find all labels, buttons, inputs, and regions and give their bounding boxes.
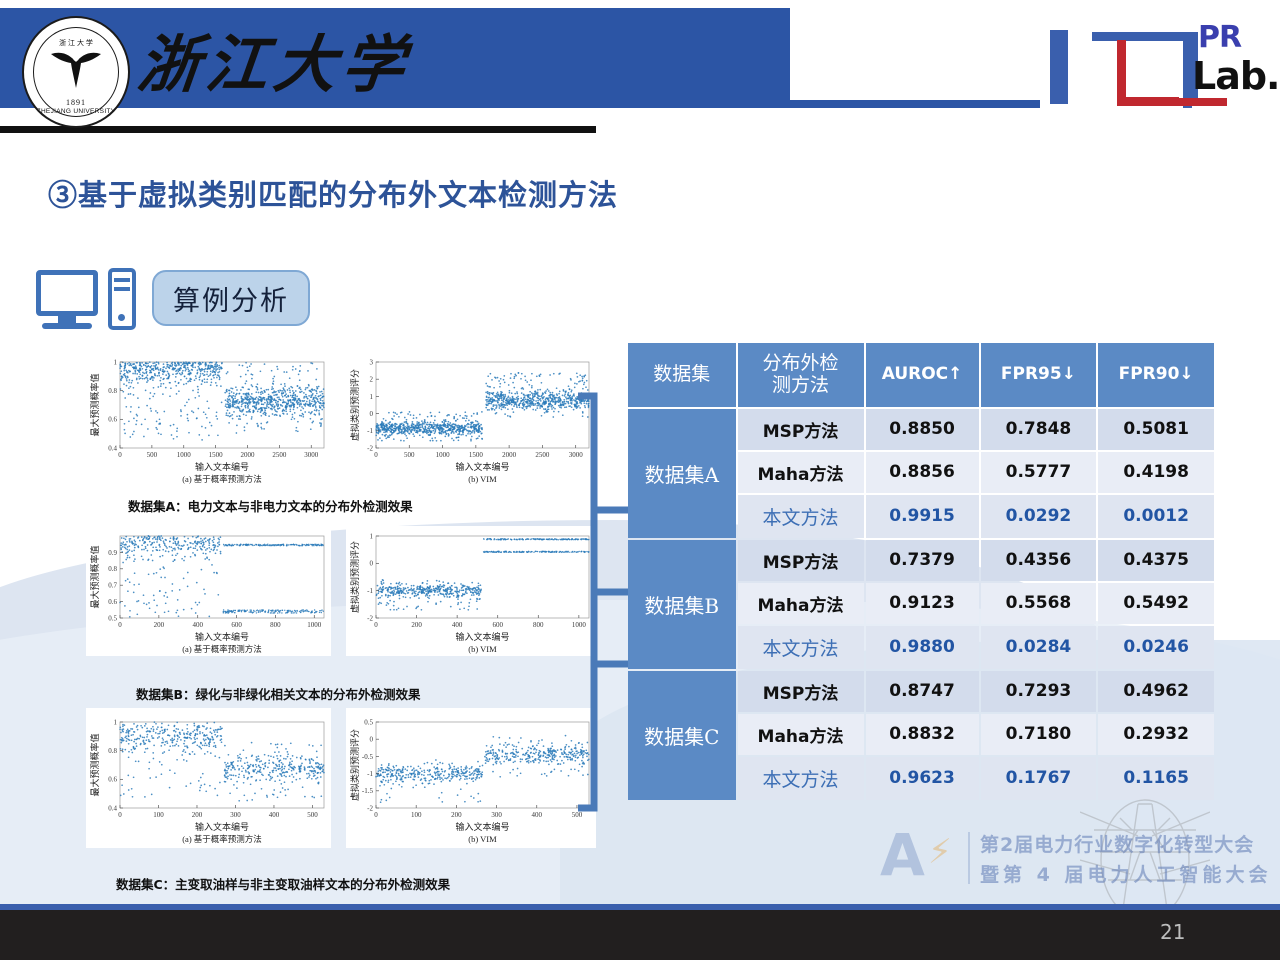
table-cell-fpr90: 0.4962 [1098,671,1214,712]
lightning-bolt-icon: ⚡ [928,832,952,872]
table-cell-fpr90: 0.5081 [1098,409,1214,450]
svg-text:1000: 1000 [307,621,322,629]
svg-text:输入文本编号: 输入文本编号 [455,461,509,473]
table-cell-fpr95: 0.7293 [981,671,1097,712]
seal-top-text: 浙 江 大 学 [24,38,128,48]
table-cell-dataset: 数据集C [628,671,736,800]
svg-text:-1: -1 [367,427,373,435]
table-cell-method: 本文方法 [738,495,864,538]
svg-text:600: 600 [492,621,503,629]
pr-logo-blue-stem [1183,32,1192,108]
figure-c-caption: 数据集C：主变取油样与非主变取油样文本的分布外检测效果 [116,874,450,893]
pr-lab-logo: PR Lab. [1050,14,1276,106]
svg-text:输入文本编号: 输入文本编号 [195,461,249,473]
university-name: 浙江大学 [135,34,414,96]
table-cell-fpr90: 0.0246 [1098,626,1214,669]
figures-area: 0.40.60.81050010001500200025003000输入文本编号… [78,340,608,900]
table-cell-auroc: 0.9915 [866,495,979,538]
pr-logo-red-underline [1117,98,1227,106]
svg-text:1: 1 [370,532,374,540]
svg-text:(a) 基于概率预测方法: (a) 基于概率预测方法 [182,474,262,484]
table-cell-method: 本文方法 [738,757,864,800]
figure-b-caption: 数据集B：绿化与非绿化相关文本的分布外检测效果 [136,684,421,703]
svg-text:虚拟类别预测评分: 虚拟类别预测评分 [349,369,361,441]
svg-text:0.8: 0.8 [108,387,117,395]
table-cell-fpr90: 0.4198 [1098,452,1214,493]
table-cell-method: Maha方法 [738,452,864,493]
col-header-auroc: AUROC↑ [866,343,979,407]
table-cell-fpr90: 0.0012 [1098,495,1214,538]
table-cell-auroc: 0.7379 [866,540,979,581]
monitor-base-icon [42,323,92,329]
svg-text:(b) VIM: (b) VIM [468,474,497,484]
table-header-row: 数据集 分布外检 测方法 AUROC↑ FPR95↓ FPR90↓ [628,343,1214,407]
col-header-method: 分布外检 测方法 [738,343,864,407]
seal-arc-text: ZHEJIANG UNIVERSITY [24,108,128,115]
conference-line-1: 第2届电力行业数字化转型大会 [980,830,1254,857]
table-cell-fpr90: 0.2932 [1098,714,1214,755]
svg-text:500: 500 [404,451,415,459]
pc-tower-slot-1-icon [114,278,130,282]
svg-text:0: 0 [118,621,122,629]
svg-text:0: 0 [370,560,374,568]
svg-text:-2: -2 [367,614,373,622]
seal-bird-icon [47,48,105,94]
svg-text:400: 400 [192,621,203,629]
table-cell-auroc: 0.9623 [866,757,979,800]
svg-text:(a) 基于概率预测方法: (a) 基于概率预测方法 [182,644,262,654]
pc-tower-slot-2-icon [114,287,130,291]
header-black-rule [0,126,596,133]
table-cell-fpr95: 0.7180 [981,714,1097,755]
svg-text:0: 0 [118,451,122,459]
conference-divider [968,832,970,884]
table-cell-fpr95: 0.1767 [981,757,1097,800]
pr-label: PR [1198,20,1241,55]
table-head: 数据集 分布外检 测方法 AUROC↑ FPR95↓ FPR90↓ [628,343,1214,407]
table-cell-auroc: 0.9123 [866,583,979,624]
page-number: 21 [1160,920,1185,944]
chart-a-left: 0.40.60.81050010001500200025003000输入文本编号… [86,348,331,488]
table-row: 数据集CMSP方法0.87470.72930.4962 [628,671,1214,712]
svg-text:0.6: 0.6 [108,598,117,606]
col-header-method-line1: 分布外检 [740,353,862,375]
table-row: 数据集BMSP方法0.73790.43560.4375 [628,540,1214,581]
footer-bar [0,910,1280,960]
table-cell-fpr95: 0.0292 [981,495,1097,538]
table-cell-method: Maha方法 [738,714,864,755]
table-cell-auroc: 0.9880 [866,626,979,669]
svg-text:2000: 2000 [241,451,256,459]
svg-text:0: 0 [374,451,378,459]
svg-text:2: 2 [370,376,374,384]
svg-text:3: 3 [370,358,374,366]
figure-a-caption: 数据集A：电力文本与非电力文本的分布外检测效果 [128,496,413,515]
conference-line-2: 暨第 4 届电力人工智能大会 [980,860,1271,887]
chart-c-left: 0.40.60.810100200300400500输入文本编号(a) 基于概率… [86,708,331,848]
col-header-fpr95: FPR95↓ [981,343,1097,407]
pc-tower-power-icon [118,314,125,321]
table-cell-fpr95: 0.5568 [981,583,1097,624]
svg-text:800: 800 [533,621,544,629]
pr-logo-red-glyph [1117,40,1179,106]
table-cell-fpr95: 0.4356 [981,540,1097,581]
table-cell-method: Maha方法 [738,583,864,624]
table-cell-fpr95: 0.0284 [981,626,1097,669]
table-cell-auroc: 0.8747 [866,671,979,712]
svg-text:1500: 1500 [469,451,484,459]
chart-b-left: 0.50.60.70.80.902004006008001000输入文本编号(a… [86,526,331,656]
col-header-method-line2: 测方法 [740,375,862,397]
svg-text:0.6: 0.6 [108,416,117,424]
svg-text:400: 400 [452,621,463,629]
results-table: 数据集 分布外检 测方法 AUROC↑ FPR95↓ FPR90↓ 数据集AMS… [626,341,1216,802]
svg-text:最大预测概率值: 最大预测概率值 [89,545,101,608]
table-cell-method: MSP方法 [738,671,864,712]
svg-text:-1: -1 [367,587,373,595]
svg-text:3000: 3000 [304,451,319,459]
seal-year: 1891 [24,98,128,107]
svg-text:1000: 1000 [436,451,451,459]
lab-label: Lab. [1192,54,1280,98]
svg-text:200: 200 [154,621,165,629]
svg-text:0.9: 0.9 [108,549,117,557]
svg-text:500: 500 [147,451,158,459]
table-cell-auroc: 0.8850 [866,409,979,450]
svg-text:(b) VIM: (b) VIM [468,644,497,654]
svg-text:1: 1 [114,358,118,366]
table-cell-auroc: 0.8856 [866,452,979,493]
svg-text:输入文本编号: 输入文本编号 [455,631,509,643]
zju-seal-logo: 浙 江 大 学 1891 ZHEJIANG UNIVERSITY [22,16,130,128]
table-cell-dataset: 数据集B [628,540,736,669]
conference-logo-letter: A [880,826,925,884]
svg-text:最大预测概率值: 最大预测概率值 [89,373,101,436]
page-title: ③基于虚拟类别匹配的分布外文本检测方法 [48,172,618,214]
svg-text:600: 600 [231,621,242,629]
col-header-dataset: 数据集 [628,343,736,407]
svg-text:虚拟类别预测评分: 虚拟类别预测评分 [349,541,361,613]
table-cell-dataset: 数据集A [628,409,736,538]
table-cell-method: MSP方法 [738,409,864,450]
slide: 浙 江 大 学 1891 ZHEJIANG UNIVERSITY 浙江大学 PR… [0,0,1280,960]
section-badge: 算例分析 [152,270,310,326]
svg-text:2500: 2500 [535,451,550,459]
header-white-notch [790,8,1042,100]
chart-b-right: -2-10102004006008001000输入文本编号(b) VIM虚拟类别… [346,526,596,656]
chart-c-left: 0.40.60.810100200300400500输入文本编号(a) 基于概率… [86,708,331,848]
svg-text:1500: 1500 [209,451,224,459]
section-badge-label: 算例分析 [173,279,289,318]
table-cell-fpr90: 0.5492 [1098,583,1214,624]
svg-text:0.8: 0.8 [108,565,117,573]
chart-c-right: -2-1.5-1-0.500.50100200300400500输入文本编号(b… [346,708,596,848]
svg-text:0: 0 [374,621,378,629]
chart-a-right: -2-10123050010001500200025003000输入文本编号(b… [346,348,596,488]
table-cell-auroc: 0.8832 [866,714,979,755]
svg-text:0.5: 0.5 [108,614,117,622]
chart-b-right: -2-10102004006008001000输入文本编号(b) VIM虚拟类别… [346,526,596,656]
svg-text:1000: 1000 [177,451,192,459]
table-row: 数据集AMSP方法0.88500.78480.5081 [628,409,1214,450]
chart-c-right: -2-1.5-1-0.500.50100200300400500输入文本编号(b… [346,708,596,848]
svg-text:2000: 2000 [502,451,517,459]
svg-text:1: 1 [370,393,374,401]
svg-text:0.7: 0.7 [108,582,117,590]
table-cell-method: 本文方法 [738,626,864,669]
chart-a-left: 0.40.60.81050010001500200025003000输入文本编号… [86,348,331,488]
svg-text:2500: 2500 [272,451,287,459]
monitor-icon [36,270,98,316]
svg-text:800: 800 [270,621,281,629]
table-cell-fpr95: 0.7848 [981,409,1097,450]
table-cell-fpr90: 0.4375 [1098,540,1214,581]
table-body: 数据集AMSP方法0.88500.78480.5081Maha方法0.88560… [628,409,1214,800]
svg-text:0.4: 0.4 [108,444,117,452]
chart-a-right: -2-10123050010001500200025003000输入文本编号(b… [346,348,596,488]
table-cell-fpr95: 0.5777 [981,452,1097,493]
svg-text:200: 200 [411,621,422,629]
chart-b-left: 0.50.60.70.80.902004006008001000输入文本编号(a… [86,526,331,656]
svg-text:0: 0 [370,410,374,418]
pr-logo-bar [1050,30,1068,104]
table-cell-method: MSP方法 [738,540,864,581]
svg-text:-2: -2 [367,444,373,452]
svg-text:输入文本编号: 输入文本编号 [195,631,249,643]
col-header-fpr90: FPR90↓ [1098,343,1214,407]
